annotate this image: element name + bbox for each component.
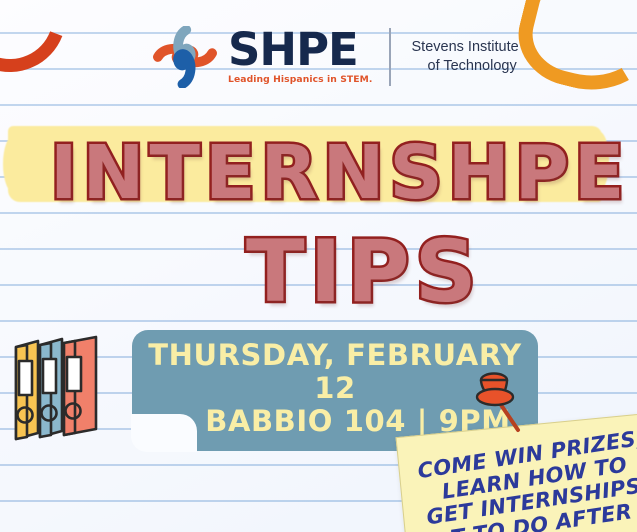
event-flyer: SHPE Leading Hispanics in STEM. Stevens … xyxy=(0,0,637,532)
shpe-tagline: Leading Hispanics in STEM. xyxy=(228,74,373,85)
logo-lockup: SHPE Leading Hispanics in STEM. Stevens … xyxy=(152,26,519,88)
shpe-wordmark-group: SHPE Leading Hispanics in STEM. xyxy=(228,29,373,84)
shpe-wordmark: SHPE xyxy=(228,29,373,70)
headline-secondary: TIPS xyxy=(246,222,482,322)
headline-primary: INTERNSHPE xyxy=(50,130,629,216)
shpe-swoosh-logo-icon xyxy=(152,26,218,88)
partner-line-1: Stevens Institute xyxy=(412,39,519,55)
partner-institution-name: Stevens Institute of Technology xyxy=(412,38,519,76)
ring-binders-illustration xyxy=(4,333,108,443)
logo-divider xyxy=(389,28,391,86)
partner-line-2: of Technology xyxy=(412,57,519,76)
pushpin-icon xyxy=(466,366,538,440)
